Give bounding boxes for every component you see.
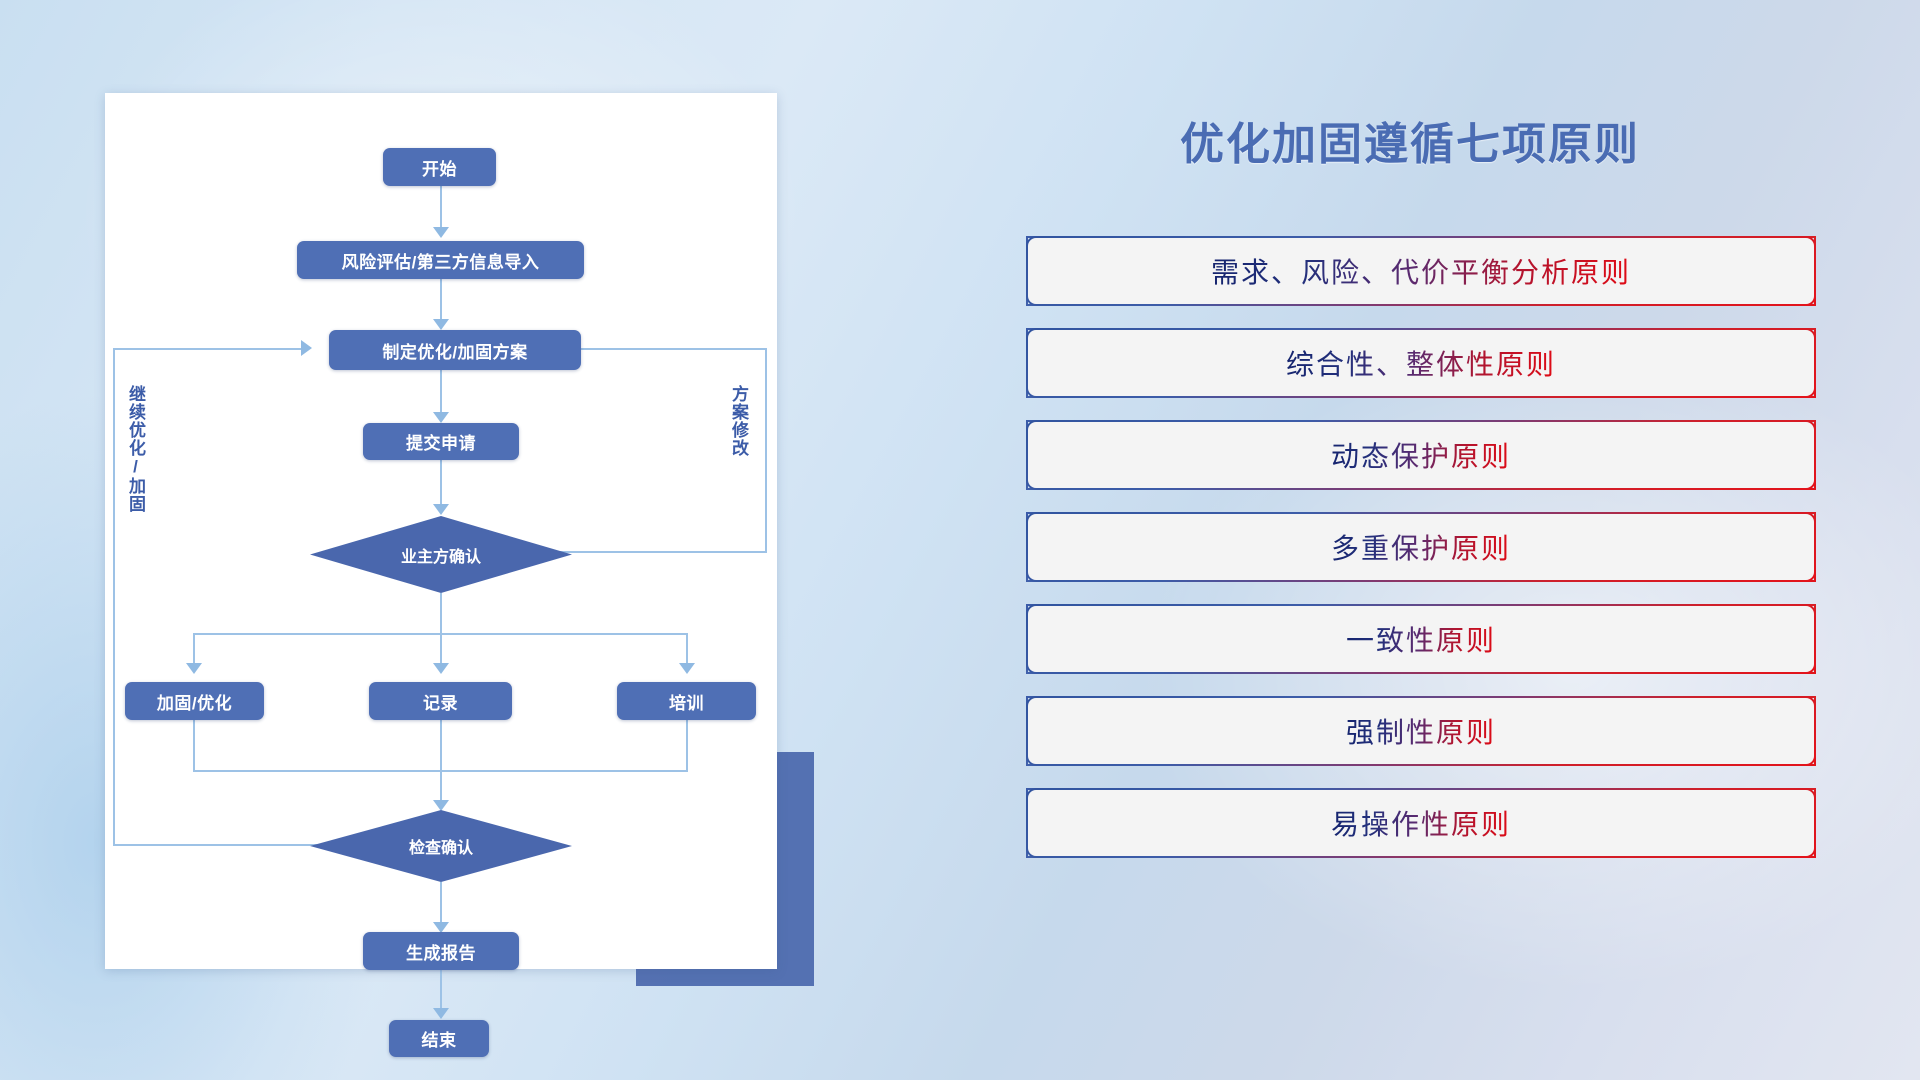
principle-card-4[interactable]: 多重保护原则 bbox=[1026, 512, 1816, 582]
flow-node-start-label: 开始 bbox=[422, 155, 457, 180]
connector-branch-left-down bbox=[193, 633, 195, 667]
principles-title: 优化加固遵循七项原则 bbox=[1000, 108, 1820, 172]
flow-node-submit-application-label: 提交申请 bbox=[406, 429, 476, 454]
flow-node-generate-report[interactable]: 生成报告 bbox=[363, 932, 519, 970]
connector-loop-left-vertical bbox=[113, 348, 115, 845]
flow-node-risk-assessment-label: 风险评估/第三方信息导入 bbox=[342, 248, 540, 273]
connector-branch-right-down bbox=[686, 633, 688, 667]
connector-report-end bbox=[440, 970, 442, 1012]
arrowhead-plan-submit bbox=[433, 412, 449, 423]
flow-node-make-plan[interactable]: 制定优化/加固方案 bbox=[329, 330, 581, 370]
principle-card-6-label: 强制性原则 bbox=[1346, 711, 1496, 751]
flow-node-training-label: 培训 bbox=[669, 689, 704, 714]
flow-edge-label-plan-revision: 方案修改 bbox=[730, 385, 747, 457]
arrowhead-merge-check bbox=[433, 800, 449, 811]
principle-card-1-label: 需求、风险、代价平衡分析原则 bbox=[1211, 251, 1631, 291]
connector-owner-record bbox=[440, 593, 442, 667]
connector-plan-submit bbox=[440, 370, 442, 416]
principle-card-4-label: 多重保护原则 bbox=[1331, 527, 1511, 567]
connector-record-check bbox=[440, 720, 442, 804]
flow-node-training[interactable]: 培训 bbox=[617, 682, 756, 720]
arrowhead-risk-plan bbox=[433, 319, 449, 330]
slide-canvas: 开始 风险评估/第三方信息导入 制定优化/加固方案 提交申请 业主方确认 加固/… bbox=[0, 0, 1920, 1080]
principles-card-list: 需求、风险、代价平衡分析原则 综合性、整体性原则 动态保护原则 多重保护原则 一… bbox=[1026, 236, 1816, 880]
connector-loop-left-bottom bbox=[113, 844, 343, 846]
principle-card-3[interactable]: 动态保护原则 bbox=[1026, 420, 1816, 490]
principle-card-5[interactable]: 一致性原则 bbox=[1026, 604, 1816, 674]
connector-training-down bbox=[686, 720, 688, 771]
connector-check-report bbox=[440, 882, 442, 926]
flowchart-card: 开始 风险评估/第三方信息导入 制定优化/加固方案 提交申请 业主方确认 加固/… bbox=[105, 93, 777, 969]
connector-loop-right-bottom bbox=[560, 551, 767, 553]
connector-loop-right-top bbox=[581, 348, 766, 350]
arrowhead-loop-left-into-plan bbox=[301, 340, 312, 356]
flow-decision-inspection-confirm-label: 检查确认 bbox=[409, 834, 473, 858]
flow-node-make-plan-label: 制定优化/加固方案 bbox=[382, 338, 527, 363]
arrowhead-branch-reinforce bbox=[186, 663, 202, 674]
principle-card-5-label: 一致性原则 bbox=[1346, 619, 1496, 659]
principle-card-7-label: 易操作性原则 bbox=[1331, 803, 1511, 843]
arrowhead-report-end bbox=[433, 1008, 449, 1019]
connector-loop-left-top bbox=[113, 348, 305, 350]
principles-panel: 优化加固遵循七项原则 需求、风险、代价平衡分析原则 综合性、整体性原则 动态保护… bbox=[1000, 0, 1920, 1080]
flow-node-generate-report-label: 生成报告 bbox=[406, 939, 476, 964]
principle-card-1[interactable]: 需求、风险、代价平衡分析原则 bbox=[1026, 236, 1816, 306]
arrowhead-submit-owner bbox=[433, 504, 449, 515]
flow-node-submit-application[interactable]: 提交申请 bbox=[363, 423, 519, 460]
flow-decision-owner-confirm-label: 业主方确认 bbox=[401, 543, 481, 567]
flow-node-reinforce-optimize-label: 加固/优化 bbox=[157, 689, 232, 714]
connector-submit-owner bbox=[440, 460, 442, 508]
flow-node-record-label: 记录 bbox=[423, 689, 458, 714]
principle-card-3-label: 动态保护原则 bbox=[1331, 435, 1511, 475]
arrowhead-branch-training bbox=[679, 663, 695, 674]
flow-node-reinforce-optimize[interactable]: 加固/优化 bbox=[125, 682, 264, 720]
flow-node-end-label: 结束 bbox=[422, 1026, 457, 1051]
arrowhead-owner-record bbox=[433, 663, 449, 674]
flow-node-start[interactable]: 开始 bbox=[383, 148, 496, 186]
flow-node-risk-assessment[interactable]: 风险评估/第三方信息导入 bbox=[297, 241, 584, 279]
principle-card-2-label: 综合性、整体性原则 bbox=[1286, 343, 1556, 383]
flow-edge-label-continue-optimize: 继续优化/加固 bbox=[127, 385, 144, 513]
flow-decision-owner-confirm[interactable]: 业主方确认 bbox=[310, 516, 572, 593]
flow-decision-inspection-confirm[interactable]: 检查确认 bbox=[310, 810, 572, 882]
principle-card-6[interactable]: 强制性原则 bbox=[1026, 696, 1816, 766]
connector-reinforce-down bbox=[193, 720, 195, 771]
connector-branch-bus-top bbox=[193, 633, 688, 635]
connector-start-risk bbox=[440, 186, 442, 231]
arrowhead-start-risk bbox=[433, 227, 449, 238]
principle-card-7[interactable]: 易操作性原则 bbox=[1026, 788, 1816, 858]
principle-card-2[interactable]: 综合性、整体性原则 bbox=[1026, 328, 1816, 398]
connector-risk-plan bbox=[440, 279, 442, 323]
flow-node-record[interactable]: 记录 bbox=[369, 682, 512, 720]
connector-loop-right-vertical bbox=[765, 348, 767, 552]
flow-node-end[interactable]: 结束 bbox=[389, 1020, 489, 1057]
